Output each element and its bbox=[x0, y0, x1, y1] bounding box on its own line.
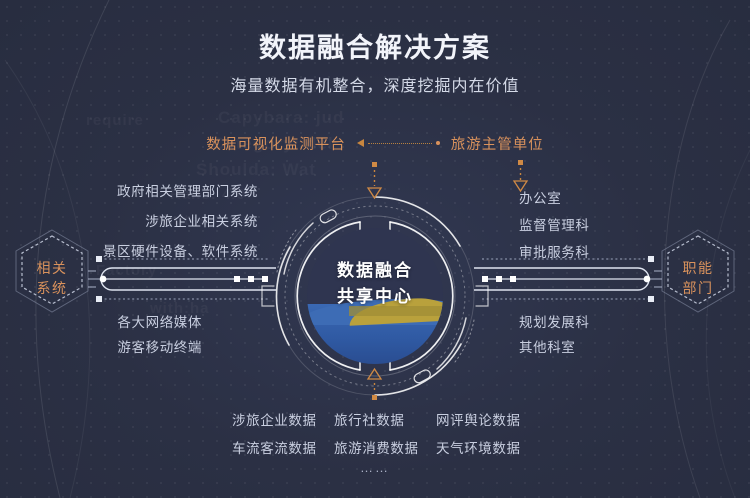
ghost-text: Capybara: jud bbox=[218, 108, 344, 128]
bottom-item-r0c2: 网评舆论数据 bbox=[436, 409, 521, 429]
right-connector-pipes bbox=[474, 256, 662, 302]
right-upper-item-0: 办公室 bbox=[519, 187, 561, 207]
page-title: 数据融合解决方案 bbox=[0, 26, 750, 65]
left-hexagon-label[interactable]: 相关 系统 bbox=[14, 258, 90, 298]
right-lower-item-1: 其他科室 bbox=[519, 336, 575, 356]
ghost-text: require bbox=[86, 112, 144, 129]
right-hexagon-line1: 职能 bbox=[660, 258, 736, 278]
center-line1: 数据融合 bbox=[281, 258, 469, 284]
bottom-item-r1c2: 天气环境数据 bbox=[436, 437, 521, 457]
ghost-text: Factory bbox=[96, 262, 157, 279]
page-subtitle: 海量数据有机整合，深度挖掘内在价值 bbox=[0, 72, 750, 96]
center-line2: 共享中心 bbox=[281, 284, 469, 310]
bottom-ellipsis: …… bbox=[0, 460, 750, 475]
arrow-down-center-icon bbox=[368, 162, 381, 198]
right-hexagon-line2: 部门 bbox=[660, 278, 736, 298]
left-hexagon-line1: 相关 bbox=[14, 258, 90, 278]
left-upper-item-1: 涉旅企业相关系统 bbox=[0, 210, 258, 230]
center-node-label: 数据融合 共享中心 bbox=[281, 258, 469, 310]
data-fusion-center-node[interactable]: 数据融合 共享中心 bbox=[281, 202, 469, 390]
right-hexagon-label[interactable]: 职能 部门 bbox=[660, 258, 736, 298]
bottom-item-r1c0: 车流客流数据 bbox=[232, 437, 317, 457]
right-lower-item-0: 规划发展科 bbox=[519, 311, 590, 331]
left-connector-pipes bbox=[88, 256, 276, 302]
dotted-arrow-left-icon bbox=[357, 139, 440, 147]
top-label-row: 数据可视化监测平台 旅游主管单位 bbox=[0, 131, 750, 155]
left-lower-item-1: 游客移动终端 bbox=[0, 336, 202, 356]
left-lower-item-0: 各大网络媒体 bbox=[0, 311, 202, 331]
bottom-item-r1c1: 旅游消费数据 bbox=[334, 437, 419, 457]
left-upper-item-0: 政府相关管理部门系统 bbox=[0, 180, 258, 200]
left-upper-item-2: 景区硬件设备、软件系统 bbox=[0, 240, 258, 260]
label-tourism-authority: 旅游主管单位 bbox=[451, 133, 544, 154]
left-hexagon-line2: 系统 bbox=[14, 278, 90, 298]
ghost-text: Shoulda: Wat bbox=[196, 160, 316, 180]
label-visualization-platform: 数据可视化监测平台 bbox=[206, 133, 346, 154]
right-upper-item-1: 监督管理科 bbox=[519, 214, 590, 234]
right-upper-item-2: 审批服务科 bbox=[519, 241, 590, 261]
infographic-canvas: Capybara: jud Category: del Shoulda: Wat… bbox=[0, 0, 750, 498]
bottom-item-r0c0: 涉旅企业数据 bbox=[232, 409, 317, 429]
bottom-item-r0c1: 旅行社数据 bbox=[334, 409, 405, 429]
